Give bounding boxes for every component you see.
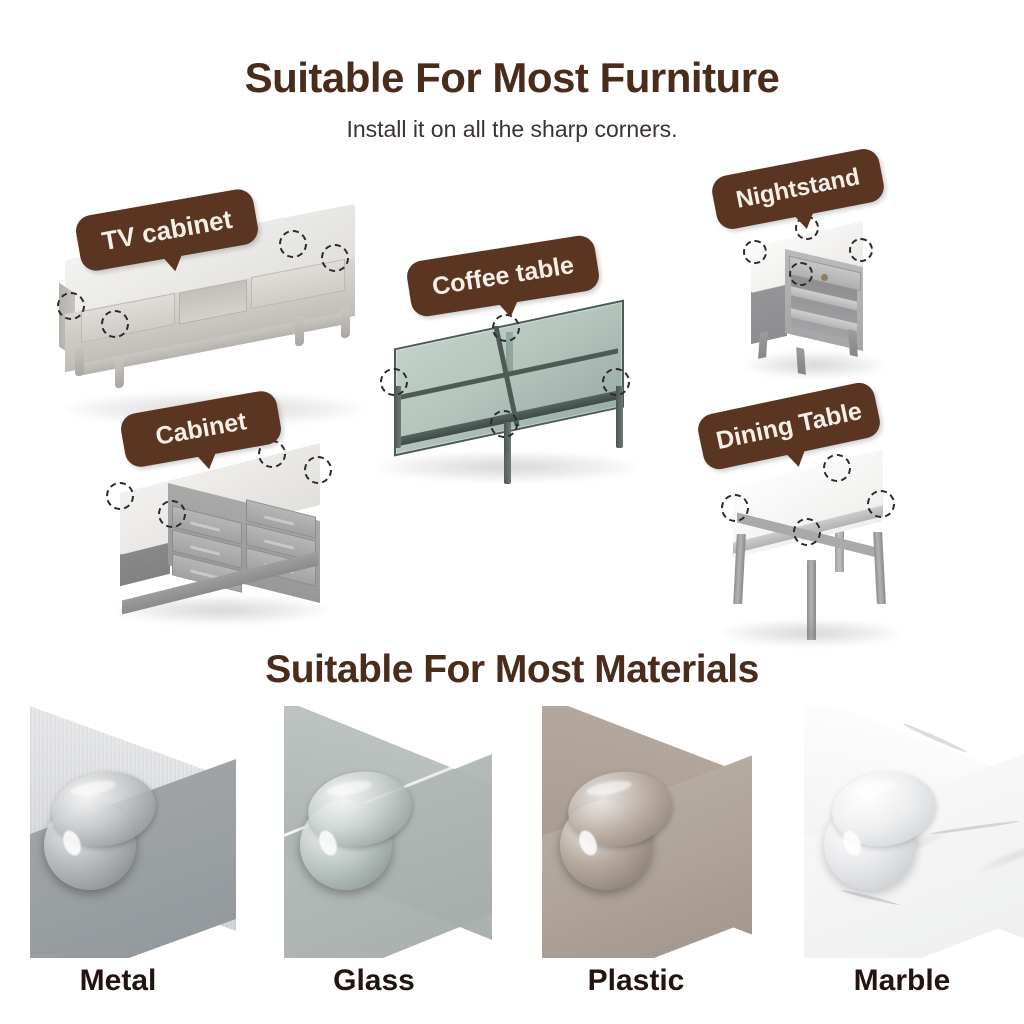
nightstand-knob-icon — [821, 274, 828, 281]
bubble-tail-icon — [196, 452, 218, 471]
bubble-tail-icon — [498, 300, 520, 319]
material-panel-marble — [780, 706, 1024, 958]
corner-marker — [721, 494, 749, 522]
label-text: Coffee table — [430, 250, 576, 301]
corner-marker — [380, 368, 408, 396]
corner-marker — [789, 262, 813, 286]
corner-marker — [743, 240, 767, 264]
corner-guard-marble — [824, 772, 944, 890]
dining-table-leg — [873, 532, 886, 604]
furniture-item-tv-cabinet: TV cabinet — [55, 210, 375, 410]
infographic-stage: Suitable For Most Furniture Install it o… — [0, 0, 1024, 1024]
ground-shadow — [721, 620, 901, 646]
furniture-item-cabinet: Cabinet — [110, 450, 340, 630]
page-title-materials: Suitable For Most Materials — [0, 648, 1024, 692]
corner-marker — [279, 230, 307, 258]
page-title-furniture: Suitable For Most Furniture — [0, 54, 1024, 102]
bubble-tail-icon — [163, 254, 185, 273]
corner-marker — [101, 310, 129, 338]
tv-cabinet-leg — [115, 357, 124, 389]
label-text: Dining Table — [714, 396, 865, 455]
ground-shadow — [376, 452, 638, 482]
ground-shadow — [114, 596, 328, 624]
page-subtitle-furniture: Install it on all the sharp corners. — [0, 116, 1024, 143]
corner-marker — [106, 482, 134, 510]
label-bubble-coffee-table: Coffee table — [405, 233, 601, 318]
label-bubble-nightstand: Nightstand — [709, 146, 886, 231]
corner-marker — [793, 518, 821, 546]
corner-marker — [321, 244, 349, 272]
material-caption-marble: Marble — [780, 964, 1024, 998]
corner-marker — [304, 456, 332, 484]
tv-cabinet-leg — [341, 307, 350, 339]
corner-marker — [823, 454, 851, 482]
furniture-item-coffee-table: Coffee table — [370, 310, 650, 450]
furniture-item-dining-table: Dining Table — [715, 450, 915, 625]
material-caption-glass: Glass — [256, 964, 492, 998]
corner-marker — [492, 314, 520, 342]
corner-guard-plastic — [560, 772, 680, 890]
label-text: Cabinet — [153, 407, 248, 451]
furniture-scene: TV cabinet Coffee table — [0, 150, 1024, 640]
furniture-item-nightstand: Nightstand — [745, 220, 885, 380]
corner-guard-glass — [300, 772, 420, 890]
tv-cabinet-leg — [295, 315, 304, 347]
label-text: Nightstand — [734, 163, 862, 214]
corner-marker — [602, 368, 630, 396]
corner-marker — [158, 500, 186, 528]
material-panel-metal — [0, 706, 236, 958]
label-text: TV cabinet — [100, 203, 235, 256]
tv-cabinet-leg — [75, 345, 84, 377]
ground-shadow — [745, 352, 885, 378]
corner-marker — [490, 410, 518, 438]
corner-marker — [867, 490, 895, 518]
material-caption-metal: Metal — [0, 964, 236, 998]
materials-strip: Metal Glass Plastic — [0, 706, 1024, 1024]
corner-guard-metal — [44, 772, 164, 890]
corner-marker — [57, 292, 85, 320]
material-panel-glass — [256, 706, 492, 958]
material-panel-plastic — [516, 706, 752, 958]
corner-marker — [849, 238, 873, 262]
bubble-tail-icon — [786, 449, 809, 469]
material-caption-plastic: Plastic — [516, 964, 756, 998]
